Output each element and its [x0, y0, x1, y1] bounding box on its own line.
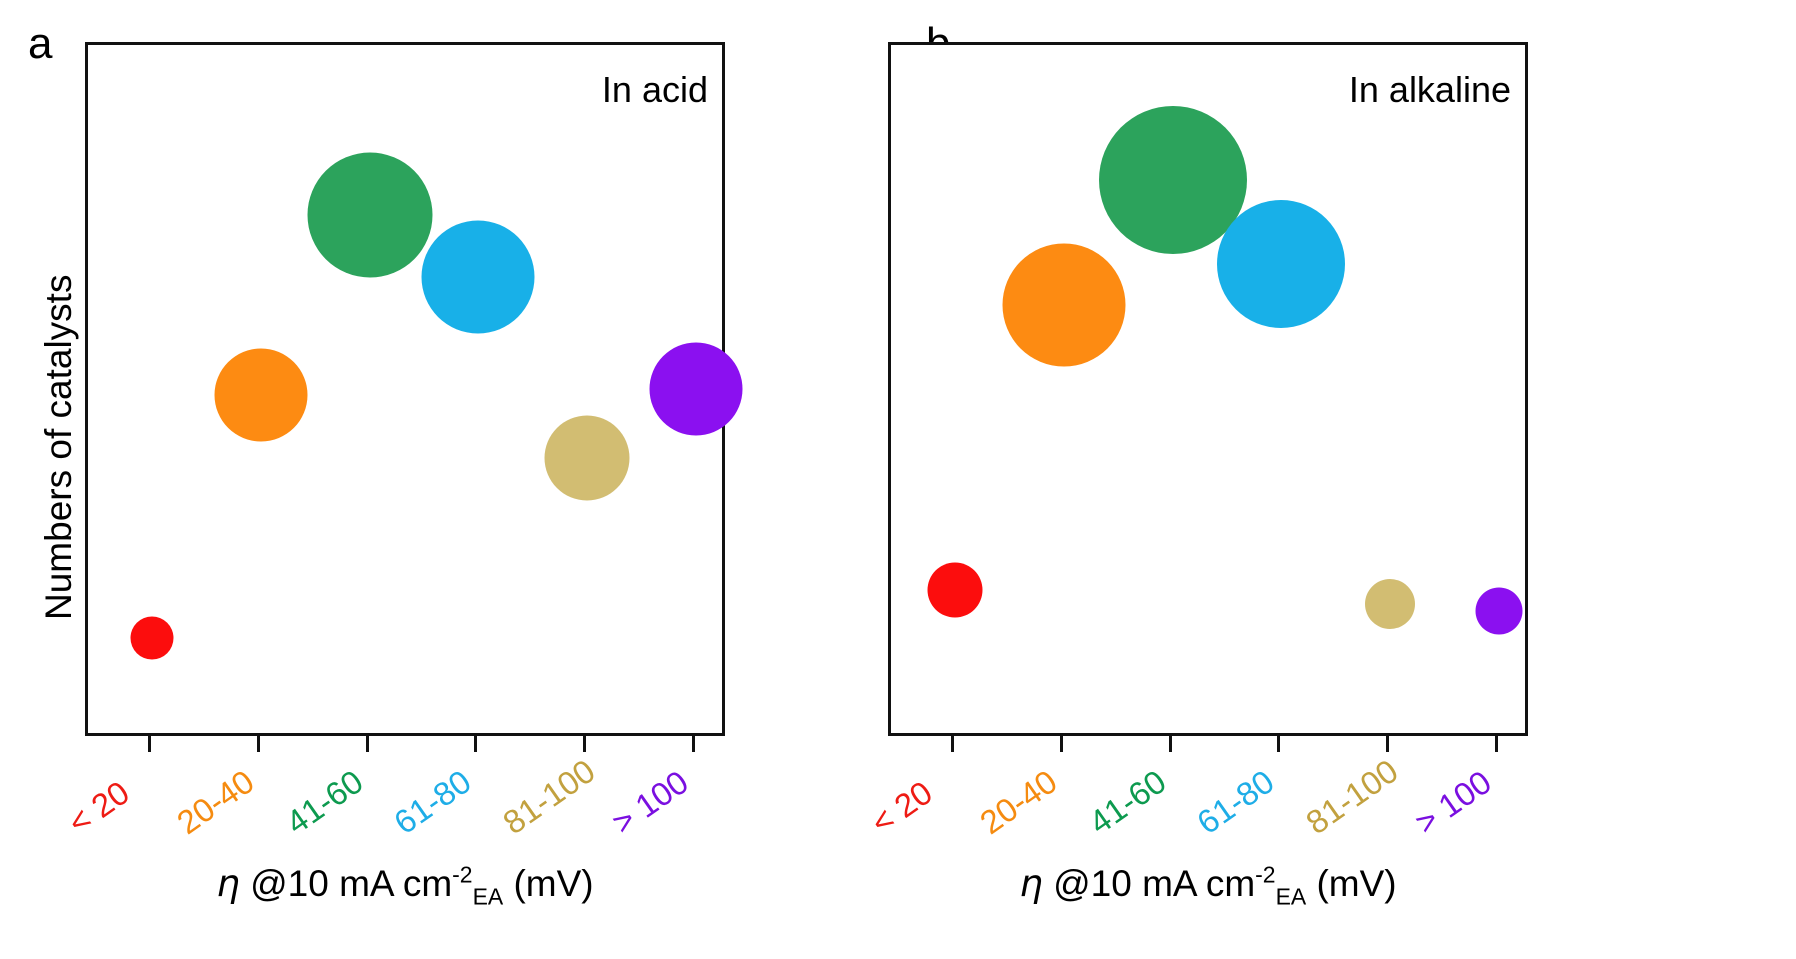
x-tick-a-2: [366, 736, 369, 752]
x-tick-a-4: [583, 736, 586, 752]
x-tick-label-a-0[interactable]: < 20: [61, 774, 136, 842]
x-tick-label-b-1[interactable]: 20-40: [973, 762, 1064, 842]
bubbles-layer-b: [891, 45, 1525, 733]
x-title-sup-a: -2: [452, 862, 472, 888]
x-tick-label-a-5[interactable]: > 100: [605, 763, 695, 842]
x-axis-title-a: η @10 mA cm-2EA (mV): [85, 862, 725, 905]
x-tick-b-2: [1169, 736, 1172, 752]
x-tick-label-a-2[interactable]: 41-60: [279, 762, 370, 842]
eta-symbol-a: η: [216, 862, 239, 905]
x-tick-b-0: [951, 736, 954, 752]
x-tick-a-5: [692, 736, 695, 752]
bubble-b-20[interactable]: [928, 562, 983, 617]
x-tick-label-b-2[interactable]: 41-60: [1082, 762, 1173, 842]
x-axis-title-b: η @10 mA cm-2EA (mV): [888, 862, 1528, 905]
bubble-a-100[interactable]: [650, 342, 743, 435]
x-title-sub-b: EA: [1276, 883, 1307, 909]
plot-area-a[interactable]: In acid: [85, 42, 725, 736]
y-axis-label-a: Numbers of catalysts: [38, 275, 80, 620]
eta-symbol-b: η: [1019, 862, 1042, 905]
x-tick-b-4: [1386, 736, 1389, 752]
bubble-a-20[interactable]: [131, 617, 174, 660]
bubble-a-20-40[interactable]: [214, 349, 307, 442]
annotation-in-alkaline: In alkaline: [1349, 69, 1511, 111]
bubble-b-20-40[interactable]: [1002, 244, 1125, 367]
annotation-in-acid: In acid: [602, 69, 708, 111]
plot-area-b[interactable]: In alkaline: [888, 42, 1528, 736]
x-tick-label-a-3[interactable]: 61-80: [388, 762, 479, 842]
bubble-b-100[interactable]: [1476, 587, 1523, 634]
x-tick-label-a-1[interactable]: 20-40: [170, 762, 261, 842]
x-title-sub-a: EA: [473, 883, 504, 909]
x-tick-a-1: [257, 736, 260, 752]
bubble-a-81-100[interactable]: [545, 415, 630, 500]
figure-root: a Numbers of catalysts In acid < 2020-40…: [0, 0, 1796, 959]
x-title-sup-b: -2: [1255, 862, 1275, 888]
x-tick-b-3: [1277, 736, 1280, 752]
x-tick-label-b-5[interactable]: > 100: [1408, 763, 1498, 842]
x-tick-b-5: [1495, 736, 1498, 752]
x-title-mid-b: @10 mA cm: [1043, 863, 1255, 904]
bubble-a-41-60[interactable]: [307, 153, 432, 278]
panel-letter-a: a: [28, 22, 52, 66]
panel-b: b Numbers of catalysts In alkaline < 202…: [898, 0, 1796, 959]
bubbles-layer-a: [88, 45, 722, 733]
x-tick-a-3: [474, 736, 477, 752]
bubble-a-61-80[interactable]: [422, 221, 535, 334]
x-tick-label-a-4[interactable]: 81-100: [496, 752, 602, 842]
x-tick-a-0: [148, 736, 151, 752]
x-tick-label-b-3[interactable]: 61-80: [1191, 762, 1282, 842]
bubble-b-61-80[interactable]: [1217, 200, 1345, 328]
bubble-b-81-100[interactable]: [1365, 579, 1415, 629]
x-tick-b-1: [1060, 736, 1063, 752]
panel-a: a Numbers of catalysts In acid < 2020-40…: [0, 0, 898, 959]
x-title-tail-b: (mV): [1306, 863, 1396, 904]
x-tick-label-b-4[interactable]: 81-100: [1299, 752, 1405, 842]
x-title-tail-a: (mV): [503, 863, 593, 904]
x-title-mid-a: @10 mA cm: [240, 863, 452, 904]
